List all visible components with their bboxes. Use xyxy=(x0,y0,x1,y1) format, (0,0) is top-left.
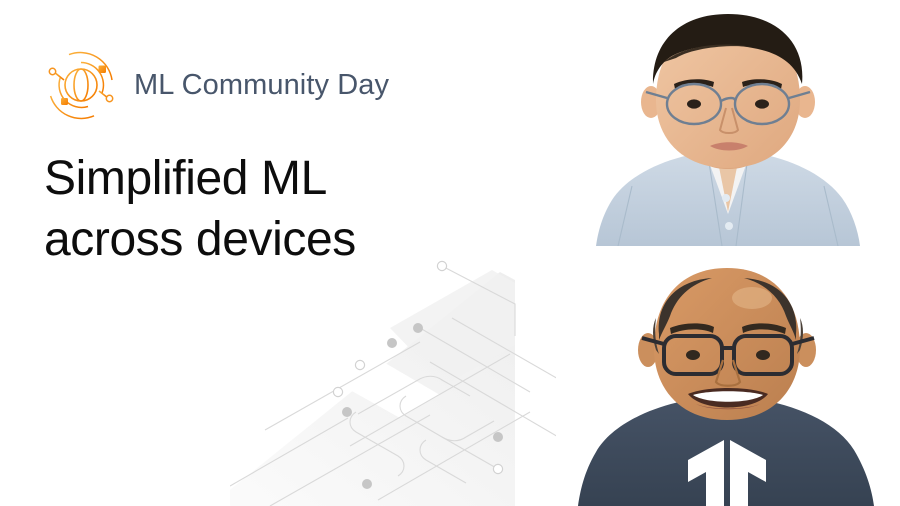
speaker-photo-top xyxy=(556,0,900,246)
presentation-slide: ML Community Day Simplified ML across de… xyxy=(0,0,900,506)
globe-orbit-icon xyxy=(42,46,120,124)
speaker-photo-bottom xyxy=(556,254,900,506)
circuit-trace-artwork xyxy=(230,250,560,506)
slide-title-line-1: Simplified ML xyxy=(44,148,514,209)
slide-title: Simplified ML across devices xyxy=(44,148,514,271)
brand-wordmark: ML Community Day xyxy=(134,71,389,100)
slide-title-line-2: across devices xyxy=(44,209,514,270)
brand-lockup: ML Community Day xyxy=(42,46,389,124)
